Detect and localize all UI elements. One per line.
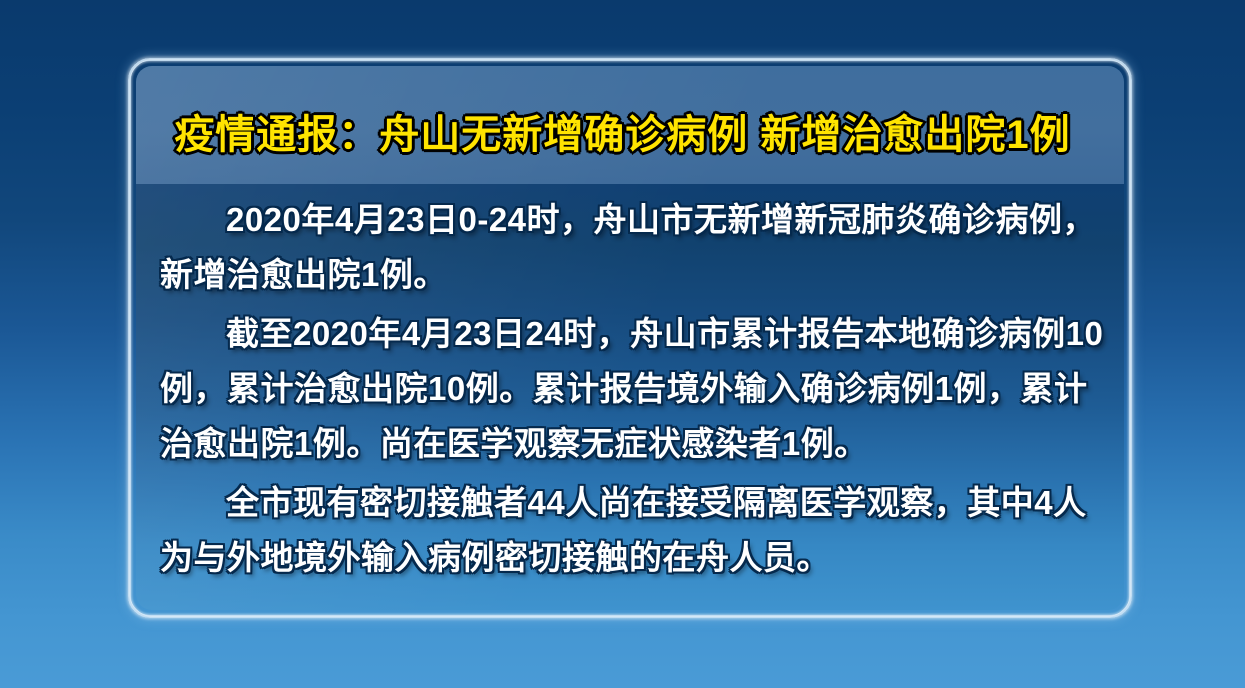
- body-copy: 2020年4月23日0-24时，舟山市无新增新冠肺炎确诊病例，新增治愈出院1例。…: [160, 192, 1110, 589]
- broadcast-screen: 疫情通报：舟山无新增确诊病例 新增治愈出院1例 2020年4月23日0-24时，…: [0, 0, 1245, 688]
- paragraph-1: 2020年4月23日0-24时，舟山市无新增新冠肺炎确诊病例，新增治愈出院1例。: [160, 192, 1110, 302]
- paragraph-2: 截至2020年4月23日24时，舟山市累计报告本地确诊病例10例，累计治愈出院1…: [160, 306, 1110, 471]
- page-title: 疫情通报：舟山无新增确诊病例 新增治愈出院1例: [0, 102, 1245, 160]
- paragraph-3: 全市现有密切接触者44人尚在接受隔离医学观察，其中4人为与外地境外输入病例密切接…: [160, 475, 1110, 585]
